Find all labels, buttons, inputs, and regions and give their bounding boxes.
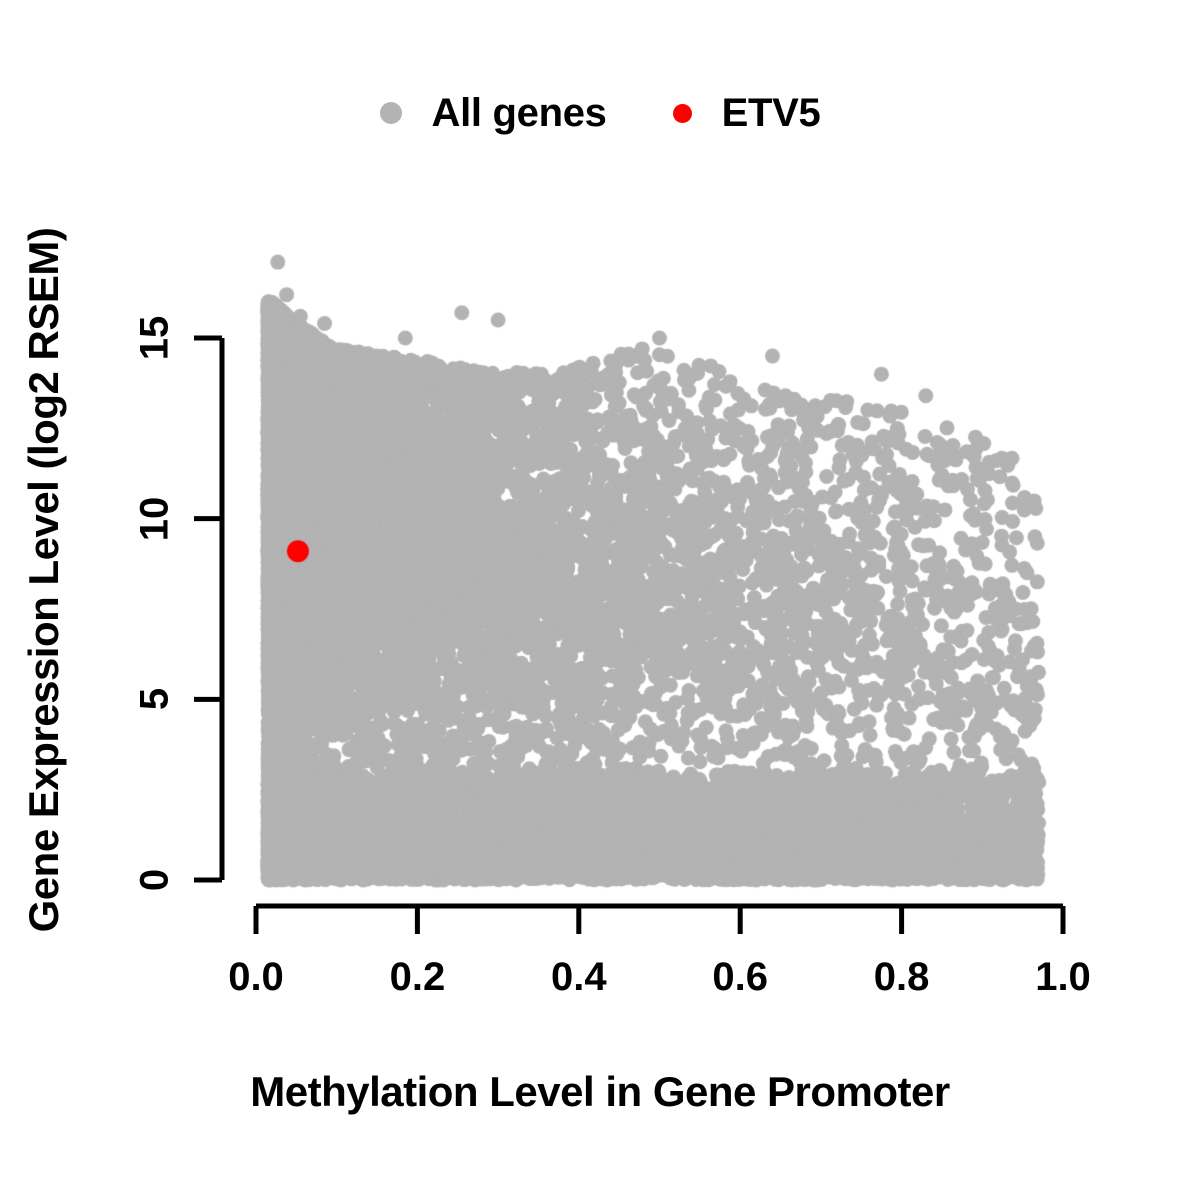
x-tick-label-5: 1.0	[1035, 955, 1091, 1000]
x-tick-label-0: 0.0	[228, 955, 284, 1000]
y-tick-label-3: 15	[133, 316, 178, 361]
x-tick-label-3: 0.6	[712, 955, 768, 1000]
x-tick-label-2: 0.4	[551, 955, 607, 1000]
x-tick-label-1: 0.2	[390, 955, 446, 1000]
x-axis-title: Methylation Level in Gene Promoter	[0, 1068, 1200, 1116]
y-tick-label-1: 5	[133, 688, 178, 710]
x-tick-label-4: 0.8	[874, 955, 930, 1000]
y-tick-label-0: 0	[133, 869, 178, 891]
scatter-plot-figure: All genes ETV5 Methylation Level in Gene…	[0, 0, 1200, 1200]
y-axis-title: Gene Expression Level (log2 RSEM)	[20, 0, 68, 1180]
y-tick-label-2: 10	[133, 496, 178, 541]
axes-svg	[0, 0, 1200, 1200]
